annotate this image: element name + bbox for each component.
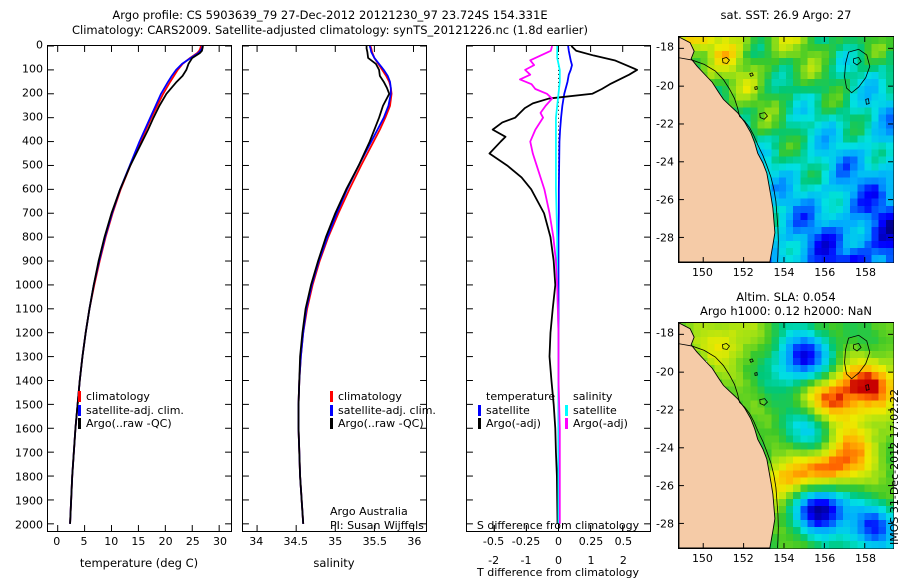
latitude-tick-label: -18	[656, 327, 674, 340]
legend-color-swatch	[478, 418, 481, 429]
legend-label: satellite	[486, 404, 530, 418]
depth-tick-label: 1600	[15, 422, 43, 435]
latitude-tick-label: -22	[656, 403, 674, 416]
depth-tick-label: 100	[22, 62, 43, 75]
depth-tick-label: 1700	[15, 446, 43, 459]
sst-map-title: sat. SST: 26.9 Argo: 27	[721, 8, 852, 22]
latitude-tick-label: -24	[656, 155, 674, 168]
s-difference-tick-label: 0.25	[579, 535, 604, 548]
legend-label: satellite	[573, 404, 617, 418]
legend-color-swatch	[78, 405, 81, 416]
s-difference-tick-label: 0.5	[615, 535, 633, 548]
sla-map-title-line-2: Argo h1000: 0.12 h2000: NaN	[700, 304, 872, 318]
header-line-1: Argo profile: CS 5903639_79 27-Dec-2012 …	[0, 8, 660, 23]
latitude-tick-label: -18	[656, 41, 674, 54]
x-tick-label: 30	[213, 535, 227, 548]
x-tick-label: 36	[407, 535, 421, 548]
x-tick-label: 25	[186, 535, 200, 548]
depth-tick-label: 1200	[15, 326, 43, 339]
depth-tick-label: 500	[22, 158, 43, 171]
figure-header: Argo profile: CS 5903639_79 27-Dec-2012 …	[0, 8, 660, 38]
sla-map-plot	[679, 323, 893, 548]
legend-color-swatch	[78, 418, 81, 429]
sla-map-title-line-1: Altim. SLA: 0.054	[700, 290, 872, 304]
depth-tick-label: 1800	[15, 470, 43, 483]
legend-color-swatch	[330, 391, 333, 402]
depth-tick-label: 1300	[15, 350, 43, 363]
legend-entry: Argo(-adj)	[565, 417, 628, 431]
latitude-tick-label: -20	[656, 79, 674, 92]
credit-block: Argo Australia PI: Susan Wijffels	[330, 505, 424, 532]
latitude-tick-label: -24	[656, 441, 674, 454]
salinity-difference-axis-title: S difference from climatology	[477, 519, 639, 532]
longitude-tick-label: 152	[733, 266, 754, 279]
depth-tick-label: 900	[22, 254, 43, 267]
legend-label: climatology	[86, 390, 150, 404]
sst-map-plot	[679, 37, 893, 262]
x-tick-label: 34	[249, 535, 263, 548]
s-difference-tick-label: 0	[555, 535, 562, 548]
legend-color-swatch	[78, 391, 81, 402]
x-tick-label: 34.5	[284, 535, 309, 548]
legend-entry: satellite-adj. clim.	[330, 404, 436, 418]
depth-tick-label: 700	[22, 206, 43, 219]
x-tick-label: 5	[81, 535, 88, 548]
longitude-tick-label: 150	[692, 552, 713, 565]
x-tick-label: 20	[159, 535, 173, 548]
depth-tick-label: 1000	[15, 278, 43, 291]
longitude-tick-label: 154	[773, 266, 794, 279]
legend-entry: Argo(..raw -QC)	[78, 417, 184, 431]
salinity-profile-plot	[243, 46, 426, 531]
s-difference-tick-label: -0.25	[512, 535, 540, 548]
salinity-legend: climatologysatellite-adj. clim.Argo(..ra…	[330, 390, 436, 431]
latitude-tick-label: -20	[656, 365, 674, 378]
sla-map-axes	[678, 322, 894, 549]
header-line-2: Climatology: CARS2009. Satellite-adjuste…	[0, 23, 660, 38]
legend-label: Argo(-adj)	[573, 417, 628, 431]
legend-color-swatch	[330, 418, 333, 429]
longitude-tick-label: 152	[733, 552, 754, 565]
sst-map-axes	[678, 36, 894, 263]
depth-tick-label: 1500	[15, 398, 43, 411]
latitude-tick-label: -28	[656, 232, 674, 245]
legend-color-swatch	[565, 405, 568, 416]
figure-canvas: Argo profile: CS 5903639_79 27-Dec-2012 …	[0, 0, 900, 580]
temperature-profile-plot	[48, 46, 231, 531]
depth-tick-label: 400	[22, 134, 43, 147]
latitude-tick-label: -22	[656, 117, 674, 130]
difference-legend-temperature: temperaturesatelliteArgo(-adj)	[478, 390, 555, 431]
temperature-axis-title: temperature (deg C)	[80, 556, 198, 570]
depth-tick-label: 0	[36, 39, 43, 52]
depth-tick-label: 1900	[15, 494, 43, 507]
legend-title: temperature	[478, 390, 555, 404]
legend-label: Argo(-adj)	[486, 417, 541, 431]
depth-tick-label: 600	[22, 182, 43, 195]
temperature-profile-axes	[47, 45, 232, 532]
legend-label: satellite-adj. clim.	[338, 404, 436, 418]
temperature-difference-axis-title: T difference from climatology	[477, 566, 639, 579]
legend-entry: Argo(-adj)	[478, 417, 555, 431]
difference-profile-plot	[467, 46, 650, 531]
longitude-tick-label: 156	[814, 552, 835, 565]
longitude-tick-label: 156	[814, 266, 835, 279]
sla-map-title: Altim. SLA: 0.054 Argo h1000: 0.12 h2000…	[700, 290, 872, 318]
legend-entry: Argo(..raw -QC)	[330, 417, 436, 431]
depth-tick-label: 300	[22, 110, 43, 123]
depth-tick-label: 800	[22, 230, 43, 243]
depth-tick-label: 1400	[15, 374, 43, 387]
x-tick-label: 15	[131, 535, 145, 548]
salinity-profile-axes	[242, 45, 427, 532]
longitude-tick-label: 154	[773, 552, 794, 565]
legend-label: Argo(..raw -QC)	[86, 417, 172, 431]
latitude-tick-label: -26	[656, 480, 674, 493]
credit-line-2: PI: Susan Wijffels	[330, 519, 424, 533]
latitude-tick-label: -26	[656, 194, 674, 207]
legend-color-swatch	[478, 405, 481, 416]
legend-entry: satellite	[565, 404, 628, 418]
x-tick-label: 0	[53, 535, 60, 548]
longitude-tick-label: 158	[855, 266, 876, 279]
imos-timestamp: IMOS 31-Dec-2012 17:02:22	[888, 389, 900, 545]
difference-legend-salinity: salinitysatelliteArgo(-adj)	[565, 390, 628, 431]
temperature-legend: climatologysatellite-adj. clim.Argo(..ra…	[78, 390, 184, 431]
depth-tick-label: 2000	[15, 518, 43, 531]
credit-line-1: Argo Australia	[330, 505, 424, 519]
s-difference-tick-label: -0.5	[483, 535, 504, 548]
legend-entry: climatology	[78, 390, 184, 404]
legend-label: Argo(..raw -QC)	[338, 417, 424, 431]
longitude-tick-label: 158	[855, 552, 876, 565]
legend-title: salinity	[565, 390, 628, 404]
x-tick-label: 10	[104, 535, 118, 548]
longitude-tick-label: 150	[692, 266, 713, 279]
depth-tick-label: 200	[22, 86, 43, 99]
salinity-axis-title: salinity	[313, 556, 354, 570]
legend-entry: climatology	[330, 390, 436, 404]
x-tick-label: 35	[328, 535, 342, 548]
legend-color-swatch	[565, 418, 568, 429]
legend-color-swatch	[330, 405, 333, 416]
depth-tick-label: 1100	[15, 302, 43, 315]
legend-entry: satellite-adj. clim.	[78, 404, 184, 418]
legend-label: satellite-adj. clim.	[86, 404, 184, 418]
legend-label: climatology	[338, 390, 402, 404]
latitude-tick-label: -28	[656, 518, 674, 531]
legend-entry: satellite	[478, 404, 555, 418]
x-tick-label: 35.5	[363, 535, 388, 548]
difference-profile-axes	[466, 45, 651, 532]
